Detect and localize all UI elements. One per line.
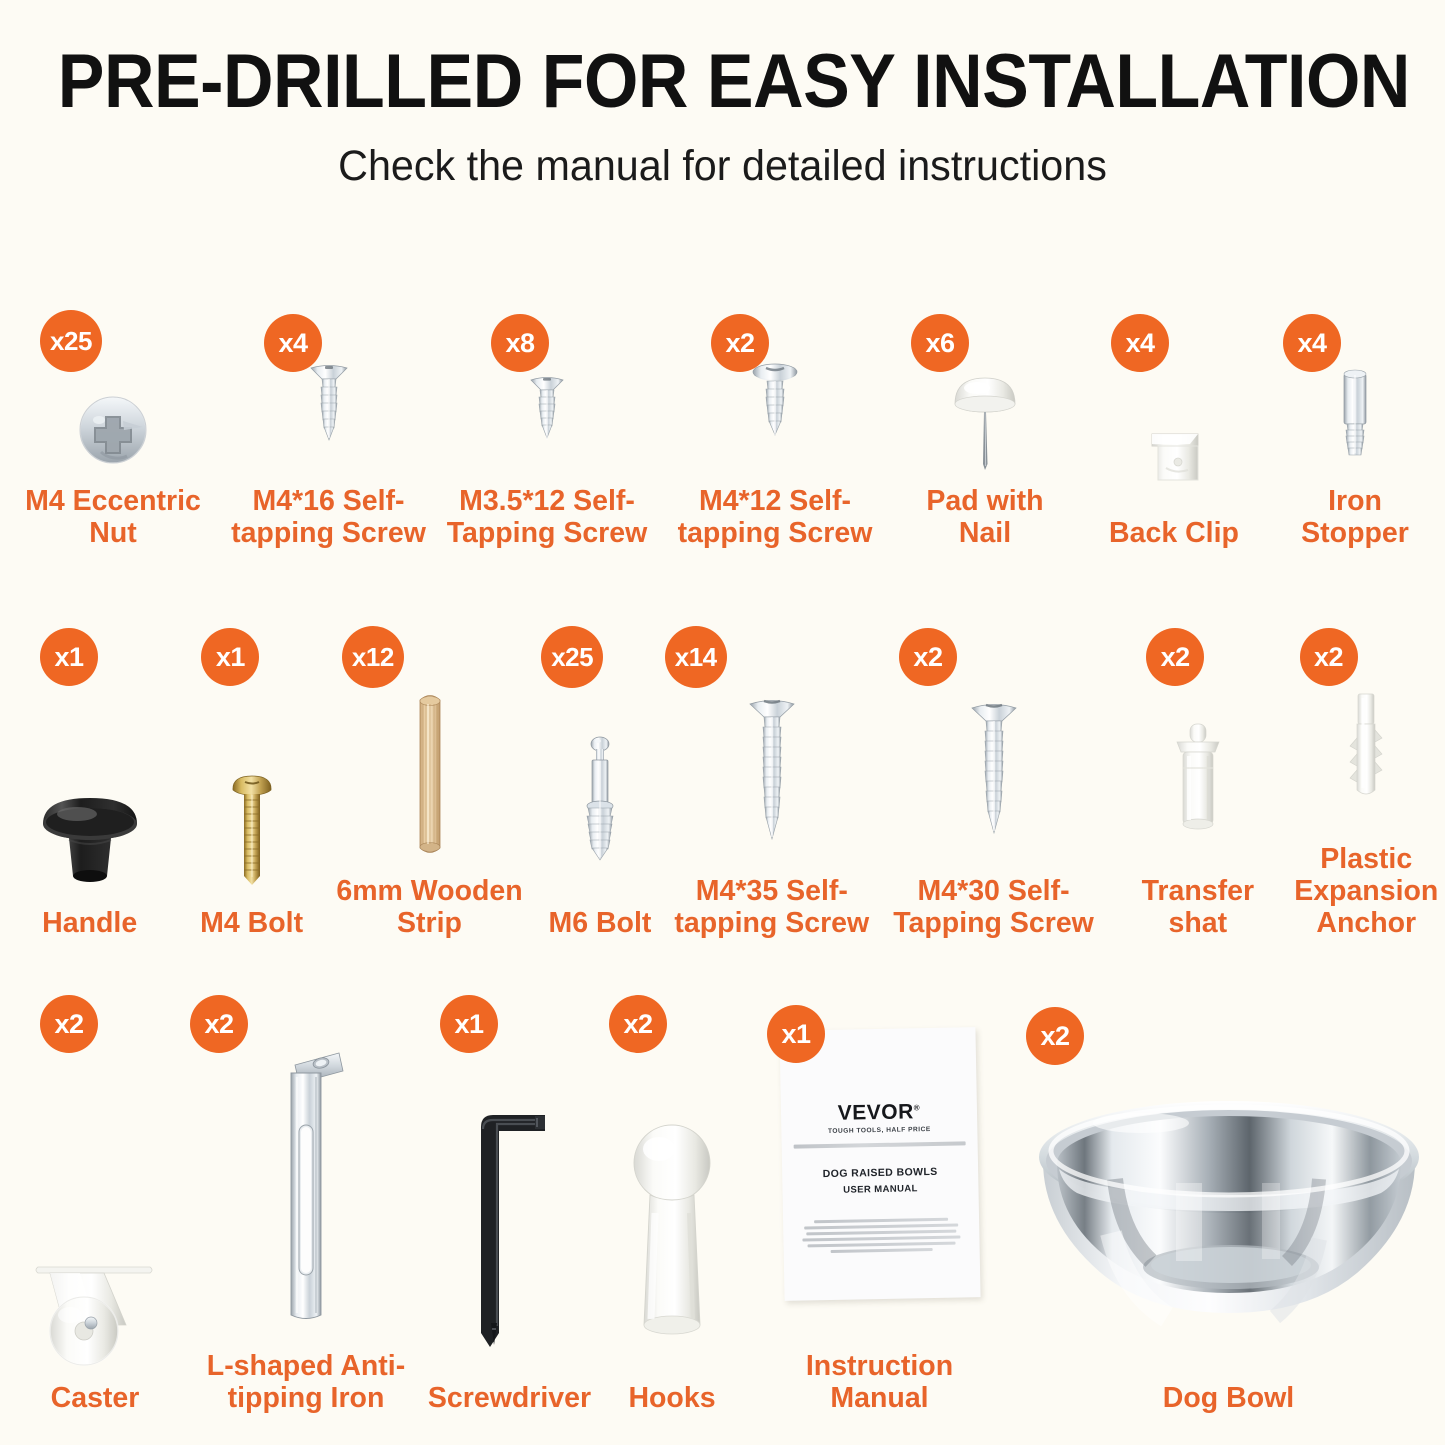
part-label: 6mm Wooden Strip: [336, 876, 522, 940]
quantity-badge: x25: [40, 310, 102, 372]
long-screw-30-part: [962, 666, 1026, 866]
quantity-badge: x1: [201, 628, 259, 686]
instruction-manual-part: VEVOR® TOUGH TOOLS, HALF PRICE DOG RAISE…: [782, 1029, 978, 1329]
part-label: Plastic Expansion Anchor: [1294, 844, 1438, 940]
part-label: Dog Bowl: [1163, 1383, 1294, 1415]
transfer-shaft-part: [1163, 666, 1233, 866]
part-item-m4x30-screw[interactable]: x2 M4*30 Self- Ta: [879, 620, 1108, 940]
part-label: Handle: [42, 908, 137, 940]
part-item-l-bracket[interactable]: x2 L-shaped Anti- tipping Iron: [190, 985, 422, 1415]
header: PRE-DRILLED FOR EASY INSTALLATION Check …: [0, 0, 1445, 191]
part-item-m4-bolt[interactable]: x1 M4 Bolt: [179, 620, 324, 940]
l-bracket-part: [251, 1041, 361, 1341]
part-label: M4 Eccentric Nut: [25, 486, 201, 550]
m4-bolt-part: [223, 698, 281, 898]
quantity-badge: x2: [711, 314, 769, 372]
quantity-badge: x8: [491, 314, 549, 372]
part-item-iron-stopper[interactable]: x4 Iron Stopper: [1265, 300, 1445, 550]
part-item-m4x35-screw[interactable]: x14 M4: [665, 620, 879, 940]
part-item-screwdriver[interactable]: x1 Screwdriver: [422, 985, 597, 1415]
flat-head-screw-part: [299, 356, 359, 476]
registered-mark-icon: ®: [913, 1103, 920, 1112]
part-label: Screwdriver: [428, 1383, 591, 1415]
part-item-dog-bowl[interactable]: x2: [1012, 985, 1445, 1415]
part-item-plastic-anchor[interactable]: x2 Plastic Expansion Anchor: [1288, 620, 1445, 940]
part-label: M6 Bolt: [548, 908, 651, 940]
quantity-badge: x4: [1283, 314, 1341, 372]
manual-cover: VEVOR® TOUGH TOOLS, HALF PRICE DOG RAISE…: [779, 1027, 980, 1301]
dog-bowl-part: [1019, 1073, 1439, 1373]
allen-key-screwdriver-part: [455, 1073, 565, 1373]
manual-footer-text-lines: [799, 1218, 964, 1257]
quantity-badge: x1: [440, 995, 498, 1053]
part-label: L-shaped Anti- tipping Iron: [207, 1351, 405, 1415]
part-label: Back Clip: [1109, 518, 1239, 550]
eccentric-nut-part: [65, 356, 161, 476]
quantity-badge: x12: [342, 626, 404, 688]
part-item-m6-bolt[interactable]: x25 M6 Bolt: [535, 620, 665, 940]
quantity-badge: x4: [1111, 314, 1169, 372]
parts-row-3: x2 Caster x2: [0, 985, 1445, 1415]
wooden-dowel-part: [407, 666, 453, 866]
part-label: M4*35 Self- tapping Screw: [674, 876, 869, 940]
flat-head-screw-small-part: [519, 356, 575, 476]
quantity-badge: x2: [609, 995, 667, 1053]
part-item-back-clip[interactable]: x4 Back Clip: [1083, 300, 1265, 550]
caster-wheel-part: [20, 1073, 170, 1373]
part-item-m4x12-screw[interactable]: x2 M4*12 Self- tapping Screw: [663, 300, 887, 550]
hook-peg-part: [617, 1073, 727, 1373]
quantity-badge: x2: [1026, 1007, 1084, 1065]
part-label: M4 Bolt: [200, 908, 303, 940]
part-label: Transfer shat: [1142, 876, 1254, 940]
quantity-badge: x1: [767, 1005, 825, 1063]
part-label: M3.5*12 Self- Tapping Screw: [447, 486, 648, 550]
part-item-pad-with-nail[interactable]: x6 Pad with Nail: [887, 300, 1083, 550]
part-label: M4*16 Self- tapping Screw: [231, 486, 426, 550]
part-label: M4*30 Self- Tapping Screw: [893, 876, 1094, 940]
pan-head-screw-part: [742, 356, 808, 476]
part-item-instruction-manual[interactable]: x1 VEVOR® TOUGH TOOLS, HALF PRICE DOG RA…: [747, 985, 1012, 1415]
parts-row-1: x25 M4 Eccentric Nut x4: [0, 300, 1445, 550]
manual-legal-line: [793, 1142, 965, 1149]
pad-with-nail-part: [939, 356, 1031, 476]
manual-tagline: TOUGH TOOLS, HALF PRICE: [781, 1125, 977, 1136]
quantity-badge: x25: [541, 626, 603, 688]
back-clip-part: [1132, 388, 1216, 508]
manual-product-subtitle: USER MANUAL: [782, 1182, 978, 1197]
manual-brand: VEVOR®: [780, 1099, 976, 1127]
handle-knob-part: [25, 698, 155, 898]
part-item-m4x16-screw[interactable]: x4 M4*16 Self- tapping Screw: [226, 300, 431, 550]
part-label: M4*12 Self- tapping Screw: [678, 486, 873, 550]
quantity-badge: x2: [190, 995, 248, 1053]
manual-product-title: DOG RAISED BOWLS: [782, 1165, 978, 1181]
part-item-m3-5x12-screw[interactable]: x8 M3.5*12 Self- Tapping Screw: [431, 300, 663, 550]
quantity-badge: x2: [1300, 628, 1358, 686]
part-item-hooks[interactable]: x2 Hooks: [597, 985, 747, 1415]
parts-row-2: x1 Handle x1: [0, 620, 1445, 940]
part-item-wooden-strip[interactable]: x12 6mm Wooden Strip: [324, 620, 535, 940]
quantity-badge: x2: [899, 628, 957, 686]
quantity-badge: x1: [40, 628, 98, 686]
long-screw-35-part: [740, 666, 804, 866]
part-item-m4-eccentric-nut[interactable]: x25 M4 Eccentric Nut: [0, 300, 226, 550]
part-label: Caster: [51, 1383, 140, 1415]
part-label: Hooks: [628, 1383, 715, 1415]
part-item-transfer-shaft[interactable]: x2 Transfer shat: [1108, 620, 1287, 940]
quantity-badge: x2: [1146, 628, 1204, 686]
part-label: Iron Stopper: [1301, 486, 1409, 550]
quantity-badge: x6: [911, 314, 969, 372]
quantity-badge: x2: [40, 995, 98, 1053]
part-item-caster[interactable]: x2 Caster: [0, 985, 190, 1415]
quantity-badge: x14: [665, 626, 727, 688]
part-item-handle[interactable]: x1 Handle: [0, 620, 179, 940]
page-title: PRE-DRILLED FOR EASY INSTALLATION: [58, 44, 1387, 120]
page-subtitle: Check the manual for detailed instructio…: [29, 142, 1416, 191]
m6-cam-bolt-part: [572, 698, 628, 898]
part-label: Instruction Manual: [806, 1351, 953, 1415]
iron-stopper-part: [1327, 356, 1383, 476]
quantity-badge: x4: [264, 314, 322, 372]
part-label: Pad with Nail: [926, 486, 1043, 550]
